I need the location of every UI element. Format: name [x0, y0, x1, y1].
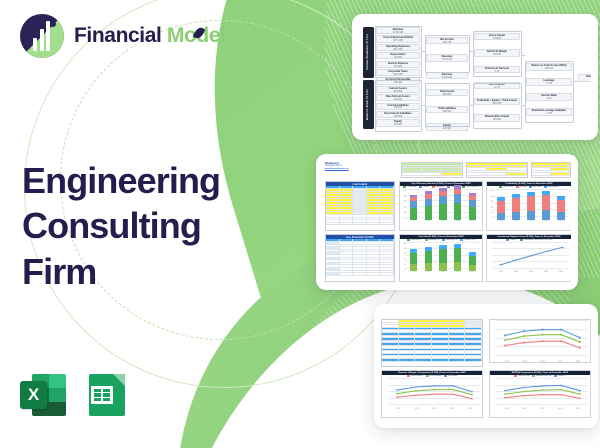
page-title-line-2: Consulting	[22, 203, 272, 248]
x-tick-label: 20X5	[559, 271, 563, 274]
table-cell	[432, 359, 449, 362]
logo-text-financial: Financial	[74, 24, 161, 47]
brand-logo-text: Financial Model	[74, 24, 226, 48]
y-tick-label: 20	[404, 212, 406, 214]
bar	[439, 245, 446, 271]
x-tick-label: 20X3	[441, 271, 445, 274]
x-tick-label: 20X3	[441, 220, 445, 223]
x-axis: 20X120X220X320X420X5	[407, 271, 480, 274]
bar-segment	[410, 264, 417, 271]
y-tick-label: 40	[404, 259, 406, 261]
table-cell	[507, 173, 527, 176]
dupont-analysis-card[interactable]: Income Statement (5 Yrs) Balance Sheet (…	[352, 14, 598, 140]
table-cell	[353, 223, 367, 226]
x-tick-label: 20X1	[505, 408, 509, 411]
table-cell	[442, 173, 462, 176]
table-cell	[353, 273, 367, 276]
y-tick-label: 100	[490, 190, 493, 192]
x-tick-label: 20X4	[456, 271, 460, 274]
dupont-tree: Income Statement (5 Yrs) Balance Sheet (…	[359, 21, 591, 133]
x-tick-label: 20X5	[470, 220, 474, 223]
rail-income-statement: Income Statement (5 Yrs)	[363, 27, 374, 78]
bar-segment	[469, 256, 476, 265]
cashflow-chart: Cash flow ($ 000) | Years to December 20…	[399, 234, 483, 282]
bar	[454, 244, 461, 271]
bar	[542, 191, 549, 220]
bar-segment	[469, 265, 476, 271]
table-row	[467, 173, 527, 176]
table-cell	[380, 273, 394, 276]
bar	[439, 188, 446, 220]
y-axis: 100806040200	[487, 190, 493, 220]
bar	[527, 192, 534, 220]
assumptions-panel-3	[531, 162, 571, 178]
table-row	[402, 173, 462, 176]
table-cell	[382, 359, 399, 362]
x-tick-label: 20X4	[558, 361, 562, 364]
bar	[454, 185, 461, 220]
x-axis: 20X120X220X320X420X5	[390, 408, 479, 411]
page-title-line-3: Firm	[22, 249, 272, 294]
y-tick-label: 60	[491, 201, 493, 203]
projections-card[interactable]: 20X120X220X320X420X5 Revenue | Margin | …	[374, 304, 598, 428]
x-axis: 20X120X220X320X420X5	[494, 220, 569, 223]
line-series	[494, 244, 569, 270]
y-tick-label: 80	[404, 196, 406, 198]
table-row	[532, 173, 570, 176]
bar-segment	[425, 199, 432, 207]
table-cell	[532, 173, 551, 176]
x-tick-label: 20X1	[397, 408, 401, 411]
google-sheets-icon[interactable]	[84, 372, 130, 418]
bar-segment	[454, 194, 461, 203]
file-format-icons: X	[20, 372, 130, 418]
bar-group	[407, 244, 480, 271]
bar-segment	[425, 263, 432, 271]
dashboard-link[interactable]: www.financialmodel.net	[325, 168, 349, 171]
x-axis: 20X120X220X320X420X5	[498, 361, 587, 364]
bar-segment	[439, 196, 446, 204]
bar	[410, 249, 417, 271]
table-cell	[367, 223, 381, 226]
bar-segment	[557, 200, 564, 213]
excel-icon[interactable]: X	[20, 372, 66, 418]
line-series	[498, 322, 587, 360]
table-cell	[415, 359, 432, 362]
projections-table	[381, 319, 483, 367]
ebitda-chart: Revenue | Margin | Comparison ($ 000) | …	[381, 370, 483, 418]
x-axis: 20X120X220X320X420X5	[407, 220, 480, 223]
rail-balance-sheet: Balance Sheet (5 Yrs)	[363, 80, 374, 129]
bar-segment	[454, 203, 461, 220]
x-tick-label: 20X3	[529, 220, 533, 223]
table-cell	[399, 359, 416, 362]
x-tick-label: 20X1	[499, 271, 503, 274]
bar-segment	[527, 196, 534, 211]
x-tick-label: 20X2	[514, 220, 518, 223]
bar-segment	[469, 207, 476, 220]
x-tick-label: 20X5	[576, 361, 580, 364]
bar-segment	[454, 262, 461, 271]
dupont-node: Return on Equity (ROE)278.23%	[578, 74, 591, 82]
bar-segment	[410, 208, 417, 220]
table-cell	[326, 223, 340, 226]
projections-screenshot: 20X120X220X320X420X5 Revenue | Margin | …	[381, 311, 591, 421]
loan-inputs-panel: Loan Inputs	[325, 181, 395, 231]
y-tick-label: 40	[404, 207, 406, 209]
bar-segment	[425, 206, 432, 220]
circular-bar-chart-logo-icon	[20, 14, 64, 58]
x-tick-label: 20X2	[523, 408, 527, 411]
bar-segment	[512, 212, 519, 220]
bar-segment	[439, 204, 446, 220]
x-tick-label: 20X1	[499, 220, 503, 223]
dashboard-screenshot: Dashboard Company Name www.financialmode…	[323, 161, 571, 283]
x-tick-label: 20X5	[576, 408, 580, 411]
table-cell	[380, 223, 394, 226]
bar-segment	[439, 263, 446, 271]
table-cell	[402, 173, 422, 176]
y-axis: 100806040200	[400, 243, 406, 271]
y-tick-label: 80	[404, 248, 406, 250]
bar-segment	[410, 201, 417, 208]
x-tick-label: 20X3	[540, 361, 544, 364]
bar-segment	[454, 248, 461, 262]
table-cell	[340, 223, 354, 226]
bar	[469, 252, 476, 271]
table-row	[326, 223, 394, 226]
excel-icon-letter: X	[20, 381, 47, 409]
y-tick-label: 60	[404, 201, 406, 203]
assumptions-panel-2	[466, 162, 528, 178]
y-tick-label: 0	[492, 218, 493, 220]
revenue-margin-chart: 20X120X220X320X420X5	[489, 319, 591, 363]
bar	[425, 247, 432, 271]
x-tick-label: 20X2	[415, 408, 419, 411]
bar-segment	[497, 213, 504, 220]
x-axis: 20X120X220X320X420X5	[494, 271, 569, 274]
bar-segment	[497, 201, 504, 213]
x-tick-label: 20X4	[450, 408, 454, 411]
bar	[512, 194, 519, 220]
table-row	[326, 273, 394, 276]
dupont-node-value: 278.23%	[580, 79, 591, 82]
y-tick-label: 20	[404, 264, 406, 266]
table-cell	[467, 173, 487, 176]
x-axis: 20X120X220X320X420X5	[498, 408, 587, 411]
bar	[410, 195, 417, 220]
sheets-grid-glyph	[91, 386, 113, 404]
financial-dashboard-card[interactable]: Dashboard Company Name www.financialmode…	[316, 154, 578, 290]
opex-chart: EBITDA Comparison ($ 000) | Years to Dec…	[489, 370, 591, 418]
bar-segment	[410, 253, 417, 264]
table-cell	[449, 359, 466, 362]
x-tick-label: 20X4	[558, 408, 562, 411]
bar-segment	[542, 210, 549, 220]
assumptions-panel-1	[401, 162, 463, 178]
x-tick-label: 20X3	[540, 408, 544, 411]
y-tick-label: 100	[403, 243, 406, 245]
x-tick-label: 20X3	[529, 271, 533, 274]
x-tick-label: 20X5	[559, 220, 563, 223]
table-cell	[465, 359, 482, 362]
poster-canvas: Financial Model Engineering Consulting F…	[0, 0, 600, 448]
logo-text-model: Model	[167, 24, 226, 47]
page-title: Engineering Consulting Firm	[22, 158, 272, 294]
bar-segment	[439, 249, 446, 263]
table-row	[382, 359, 482, 362]
dupont-node-value: 325,900	[428, 128, 466, 130]
y-axis: 100806040200	[400, 190, 406, 220]
x-tick-label: 20X4	[544, 271, 548, 274]
profitability-chart: Profitability ($ 000) | Years to Decembe…	[486, 181, 571, 231]
table-cell	[340, 273, 354, 276]
revenue-streams-chart: Top 5 Revenue Streams ($ 000) | Years to…	[399, 181, 483, 231]
bar-segment	[512, 198, 519, 212]
table-cell	[422, 173, 442, 176]
x-tick-label: 20X4	[544, 220, 548, 223]
bar-segment	[542, 195, 549, 210]
x-tick-label: 20X2	[523, 361, 527, 364]
x-tick-label: 20X1	[505, 361, 509, 364]
x-tick-label: 20X2	[426, 271, 430, 274]
bar-segment	[527, 211, 534, 220]
line-series	[498, 380, 587, 407]
y-tick-label: 20	[491, 212, 493, 214]
dashboard-heading: Dashboard Company Name www.financialmode…	[325, 162, 349, 171]
page-title-line-1: Engineering	[22, 158, 272, 203]
key-financials-panel: Key Financials ($ 000)	[325, 234, 395, 282]
bar	[497, 197, 504, 220]
bar-group	[407, 191, 480, 220]
brand-logo[interactable]: Financial Model	[20, 14, 226, 58]
payback-curve-chart: Investment Payback Curve ($ 000) | Years…	[486, 234, 571, 282]
x-tick-label: 20X4	[456, 220, 460, 223]
table-cell	[367, 273, 381, 276]
y-tick-label: 40	[491, 207, 493, 209]
x-tick-label: 20X1	[412, 220, 416, 223]
table-cell	[487, 173, 507, 176]
table-cell	[326, 273, 340, 276]
bar-segment	[425, 251, 432, 264]
table-cell	[551, 173, 570, 176]
dupont-node-label: Return on Equity (ROE)	[586, 75, 591, 78]
bar	[425, 191, 432, 220]
bar-segment	[557, 212, 564, 220]
x-tick-label: 20X2	[426, 220, 430, 223]
bar-group	[494, 191, 569, 220]
dupont-node-label: Revenue	[442, 73, 452, 76]
y-tick-label: 80	[491, 196, 493, 198]
x-tick-label: 20X1	[412, 271, 416, 274]
line-series	[390, 380, 479, 407]
y-tick-label: 100	[403, 190, 406, 192]
bar	[469, 193, 476, 220]
x-tick-label: 20X2	[514, 271, 518, 274]
dupont-node-value: 2,530,000	[428, 77, 466, 79]
y-tick-label: 60	[404, 253, 406, 255]
x-tick-label: 20X5	[470, 271, 474, 274]
x-tick-label: 20X3	[432, 408, 436, 411]
x-tick-label: 20X5	[468, 408, 472, 411]
bar-segment	[469, 200, 476, 207]
bar	[557, 196, 564, 220]
